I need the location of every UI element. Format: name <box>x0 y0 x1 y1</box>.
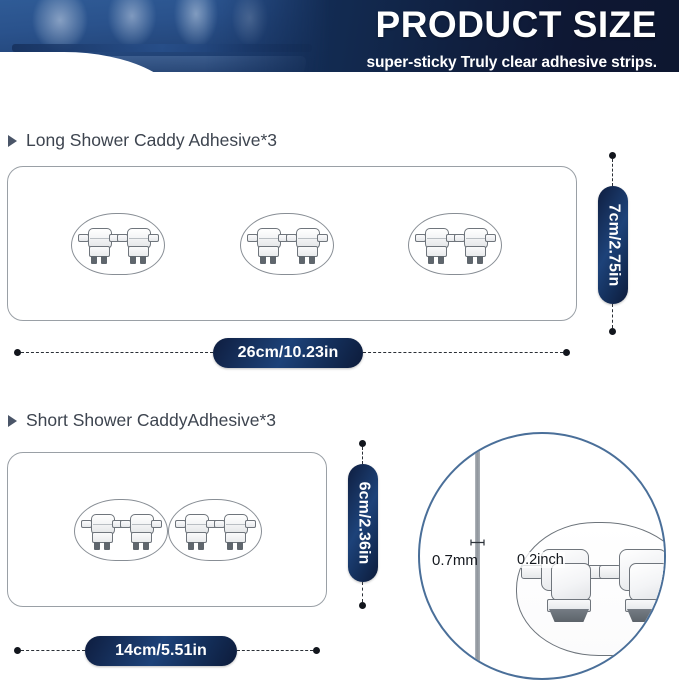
hook-group <box>240 213 334 275</box>
dim-line-vertical <box>612 304 613 328</box>
thickness-label-mm: 0.7mm <box>432 552 478 569</box>
dim-line-horizontal <box>237 650 313 651</box>
section-heading-short: Short Shower CaddyAdhesive*3 <box>8 410 276 431</box>
hook-group <box>408 213 502 275</box>
hook-group <box>168 499 262 561</box>
product-banner: PRODUCT SIZE super-sticky Truly clear ad… <box>0 0 679 88</box>
dim-line-horizontal <box>21 352 213 353</box>
dim-line-horizontal <box>363 352 563 353</box>
dim-endpoint-dot <box>609 328 616 335</box>
dim-line-horizontal <box>21 650 85 651</box>
banner-bottom-fill <box>0 72 679 88</box>
hook-detail-blob <box>516 522 666 656</box>
long-adhesive-strip <box>7 166 577 321</box>
adhesive-hook-icon <box>290 224 324 264</box>
height-badge-long: 7cm/2.75in <box>598 186 628 304</box>
page-title: PRODUCT SIZE <box>376 6 657 43</box>
dim-line-vertical <box>362 582 363 602</box>
triangle-right-icon <box>8 135 17 147</box>
dim-endpoint-dot <box>14 349 21 356</box>
dim-endpoint-dot <box>563 349 570 356</box>
hook-group <box>71 213 165 275</box>
page-subtitle: super-sticky Truly clear adhesive strips… <box>366 54 657 72</box>
short-adhesive-strip <box>7 452 327 607</box>
adhesive-hook-icon <box>82 224 116 264</box>
thickness-detail-magnifier: 0.7mm 0.2inch <box>418 432 666 680</box>
adhesive-hook-detail-icon <box>605 541 666 623</box>
adhesive-hook-icon <box>124 510 158 550</box>
dim-endpoint-dot <box>313 647 320 654</box>
dim-endpoint-dot <box>359 440 366 447</box>
adhesive-hook-icon <box>85 510 119 550</box>
section-heading-long-label: Long Shower Caddy Adhesive*3 <box>26 130 277 151</box>
adhesive-hook-icon <box>121 224 155 264</box>
width-badge-short: 14cm/5.51in <box>85 636 237 666</box>
adhesive-hook-icon <box>458 224 492 264</box>
adhesive-hook-icon <box>251 224 285 264</box>
dim-endpoint-dot <box>359 602 366 609</box>
width-badge-long: 26cm/10.23in <box>213 338 363 368</box>
adhesive-hook-icon <box>218 510 252 550</box>
thickness-label-inch: 0.2inch <box>516 552 565 568</box>
dim-line-vertical <box>362 447 363 464</box>
section-heading-short-label: Short Shower CaddyAdhesive*3 <box>26 410 276 431</box>
dim-endpoint-dot <box>609 152 616 159</box>
adhesive-hook-icon <box>179 510 213 550</box>
adhesive-hook-icon <box>419 224 453 264</box>
hook-group <box>74 499 168 561</box>
section-heading-long: Long Shower Caddy Adhesive*3 <box>8 130 277 151</box>
dim-endpoint-dot <box>14 647 21 654</box>
triangle-right-icon <box>8 415 17 427</box>
dim-line-vertical <box>612 159 613 186</box>
height-badge-short: 6cm/2.36in <box>348 464 378 582</box>
thickness-arrow-icon <box>470 538 485 547</box>
